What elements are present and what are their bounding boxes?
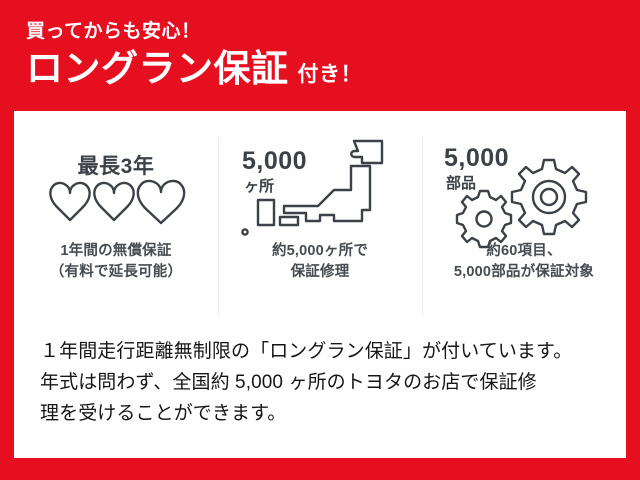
heart-shape-middle xyxy=(94,183,133,220)
header-kicker: 買ってからも安心！ xyxy=(26,22,640,41)
banner-header: 買ってからも安心！ ロングラン保証 付き！ xyxy=(0,0,640,111)
header-title: ロングラン保証 xyxy=(26,50,289,87)
japan-map-icon: 5,000 ヶ所 xyxy=(222,133,418,241)
feature-caption-3-line-1: 約60項目、 xyxy=(486,243,561,259)
feature-column-service-locations: 5,000 ヶ所 xyxy=(218,133,422,321)
feature-columns: 最長3年 1年間の無償保証 （有料で延長可能） xyxy=(14,133,626,321)
heart-shape-right xyxy=(138,181,184,223)
heart-shape-left xyxy=(50,183,89,220)
feature-graphic-japan-map: 5,000 ヶ所 xyxy=(224,133,416,241)
gear-small-body xyxy=(457,191,511,247)
feature-caption-2-line-2: 保証修理 xyxy=(291,264,350,280)
feature-headline-number-3: 5,000 xyxy=(444,144,509,172)
header-title-row: ロングラン保証 付き！ xyxy=(26,50,640,87)
feature-caption-1-line-1: 1年間の無償保証 xyxy=(60,243,171,259)
gear-large-outer-ring xyxy=(533,181,565,213)
feature-headline-number-1: 最長3年 xyxy=(78,154,155,178)
feature-caption-2-line-1: 約5,000ヶ所で xyxy=(272,243,368,259)
feature-headline-unit-2: ヶ所 xyxy=(244,178,274,195)
feature-caption-1-line-2: （有料で延長可能） xyxy=(50,264,182,280)
description-line-2: 年式は問わず、全国約 5,000 ヶ所のトヨタのお店で保証修 xyxy=(40,368,606,399)
feature-caption-3-line-2: 5,000部品が保証対象 xyxy=(454,264,594,280)
longrun-warranty-banner: 買ってからも安心！ ロングラン保証 付き！ 最長3年 xyxy=(0,0,640,480)
map-region-kyushu xyxy=(258,200,274,225)
header-title-suffix: 付き！ xyxy=(298,64,363,85)
gear-large-body xyxy=(512,160,586,234)
map-region-okinawa xyxy=(242,229,247,234)
feature-headline-number-2: 5,000 xyxy=(242,147,307,175)
three-hearts-icon: 最長3年 xyxy=(18,133,214,241)
feature-column-covered-parts: 5,000 部品 約60項目、 xyxy=(422,133,626,321)
feature-caption-2: 約5,000ヶ所で 保証修理 xyxy=(272,241,368,283)
gears-icon: 5,000 部品 xyxy=(426,133,622,241)
gear-large-inner-ring xyxy=(541,189,557,205)
feature-graphic-gears: 5,000 部品 xyxy=(428,133,620,241)
map-region-shikoku xyxy=(280,217,298,225)
description-paragraph: １年間走行距離無制限の「ロングラン保証」が付いています。 年式は問わず、全国約 … xyxy=(40,337,606,429)
gear-small-center xyxy=(477,212,492,227)
feature-headline-unit-3: 部品 xyxy=(446,174,476,192)
feature-column-warranty-period: 最長3年 1年間の無償保証 （有料で延長可能） xyxy=(14,133,218,321)
map-region-hokkaido xyxy=(351,141,382,163)
description-line-1: １年間走行距離無制限の「ロングラン保証」が付いています。 xyxy=(40,337,606,368)
feature-graphic-hearts: 最長3年 xyxy=(20,133,212,241)
feature-caption-3: 約60項目、 5,000部品が保証対象 xyxy=(454,241,594,283)
description-line-3: 理を受けることができます。 xyxy=(40,399,606,430)
content-panel: 最長3年 1年間の無償保証 （有料で延長可能） xyxy=(14,111,626,458)
feature-caption-1: 1年間の無償保証 （有料で延長可能） xyxy=(50,241,182,283)
